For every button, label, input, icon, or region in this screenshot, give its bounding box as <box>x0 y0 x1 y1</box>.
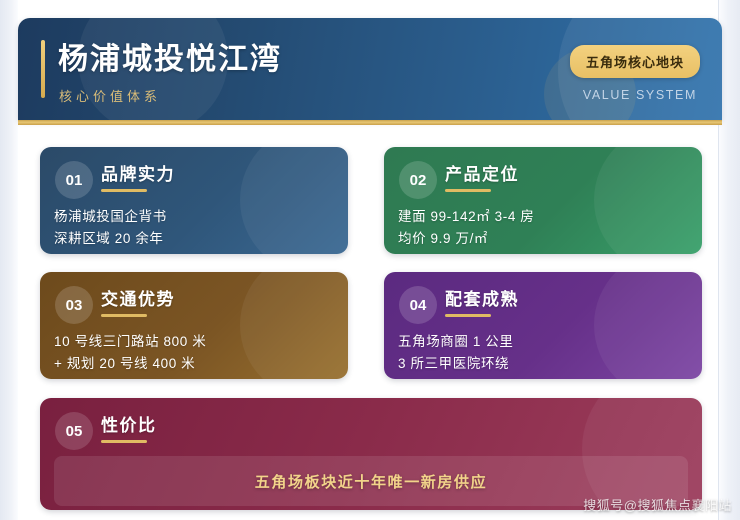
header-english-label: VALUE SYSTEM <box>583 88 697 102</box>
card-title-underline <box>445 314 491 317</box>
card-title-wrap: 交通优势 <box>101 289 175 317</box>
card-number-badge: 02 <box>399 161 437 199</box>
card-title-wrap: 产品定位 <box>445 164 519 192</box>
header-gold-divider <box>18 120 722 125</box>
card-header: 04 配套成熟 <box>399 286 519 324</box>
card-header: 01 品牌实力 <box>55 161 175 199</box>
card-body: 建面 99-142㎡ 3-4 房 均价 9.9 万/㎡ <box>398 206 688 250</box>
card-number-badge: 01 <box>55 161 93 199</box>
card-title-underline <box>101 440 147 443</box>
card-body: 杨浦城投国企背书 深耕区域 20 余年 <box>54 206 334 250</box>
card-title-wrap: 性价比 <box>101 415 157 443</box>
card-number-badge: 03 <box>55 286 93 324</box>
poster-header: 杨浦城投悦江湾 核心价值体系 五角场核心地块 VALUE SYSTEM <box>18 18 722 120</box>
card-body: 五角场商圈 1 公里 3 所三甲医院环绕 <box>398 331 688 375</box>
card-title: 交通优势 <box>101 289 175 311</box>
card-line: 3 所三甲医院环绕 <box>398 353 688 375</box>
card-title-underline <box>445 189 491 192</box>
card-line: 均价 9.9 万/㎡ <box>398 228 688 250</box>
card-title: 性价比 <box>101 415 157 437</box>
card-title-underline <box>101 189 147 192</box>
card-line: 建面 99-142㎡ 3-4 房 <box>398 206 688 228</box>
card-title: 产品定位 <box>445 164 519 186</box>
card-title-wrap: 配套成熟 <box>445 289 519 317</box>
card-line: 10 号线三门路站 800 米 <box>54 331 334 353</box>
card-header: 05 性价比 <box>55 412 157 450</box>
watermark: 搜狐号@搜狐焦点襄阳站 <box>583 495 732 514</box>
value-card-value-for-money[interactable]: 05 性价比 五角场板块近十年唯一新房供应 <box>40 398 702 510</box>
card-title: 品牌实力 <box>101 164 175 186</box>
card-line: 杨浦城投国企背书 <box>54 206 334 228</box>
card-header: 02 产品定位 <box>399 161 519 199</box>
card-number-badge: 05 <box>55 412 93 450</box>
highlight-text: 五角场板块近十年唯一新房供应 <box>255 471 487 492</box>
card-header: 03 交通优势 <box>55 286 175 324</box>
card-number-badge: 04 <box>399 286 437 324</box>
card-line: 五角场商圈 1 公里 <box>398 331 688 353</box>
card-line: 深耕区域 20 余年 <box>54 228 334 250</box>
card-title-wrap: 品牌实力 <box>101 164 175 192</box>
gold-accent-bar <box>41 40 45 98</box>
card-body: 10 号线三门路站 800 米 + 规划 20 号线 400 米 <box>54 331 334 375</box>
location-badge[interactable]: 五角场核心地块 <box>570 45 700 78</box>
value-card-product[interactable]: 02 产品定位 建面 99-142㎡ 3-4 房 均价 9.9 万/㎡ <box>384 147 702 254</box>
card-title: 配套成熟 <box>445 289 519 311</box>
page-title: 杨浦城投悦江湾 <box>58 41 282 79</box>
page-subtitle: 核心价值体系 <box>59 88 161 106</box>
value-card-brand[interactable]: 01 品牌实力 杨浦城投国企背书 深耕区域 20 余年 <box>40 147 348 254</box>
card-line: + 规划 20 号线 400 米 <box>54 353 334 375</box>
card-title-underline <box>101 314 147 317</box>
poster-stage: 杨浦城投悦江湾 核心价值体系 五角场核心地块 VALUE SYSTEM 01 品… <box>0 0 740 520</box>
value-card-transport[interactable]: 03 交通优势 10 号线三门路站 800 米 + 规划 20 号线 400 米 <box>40 272 348 379</box>
value-card-amenities[interactable]: 04 配套成熟 五角场商圈 1 公里 3 所三甲医院环绕 <box>384 272 702 379</box>
